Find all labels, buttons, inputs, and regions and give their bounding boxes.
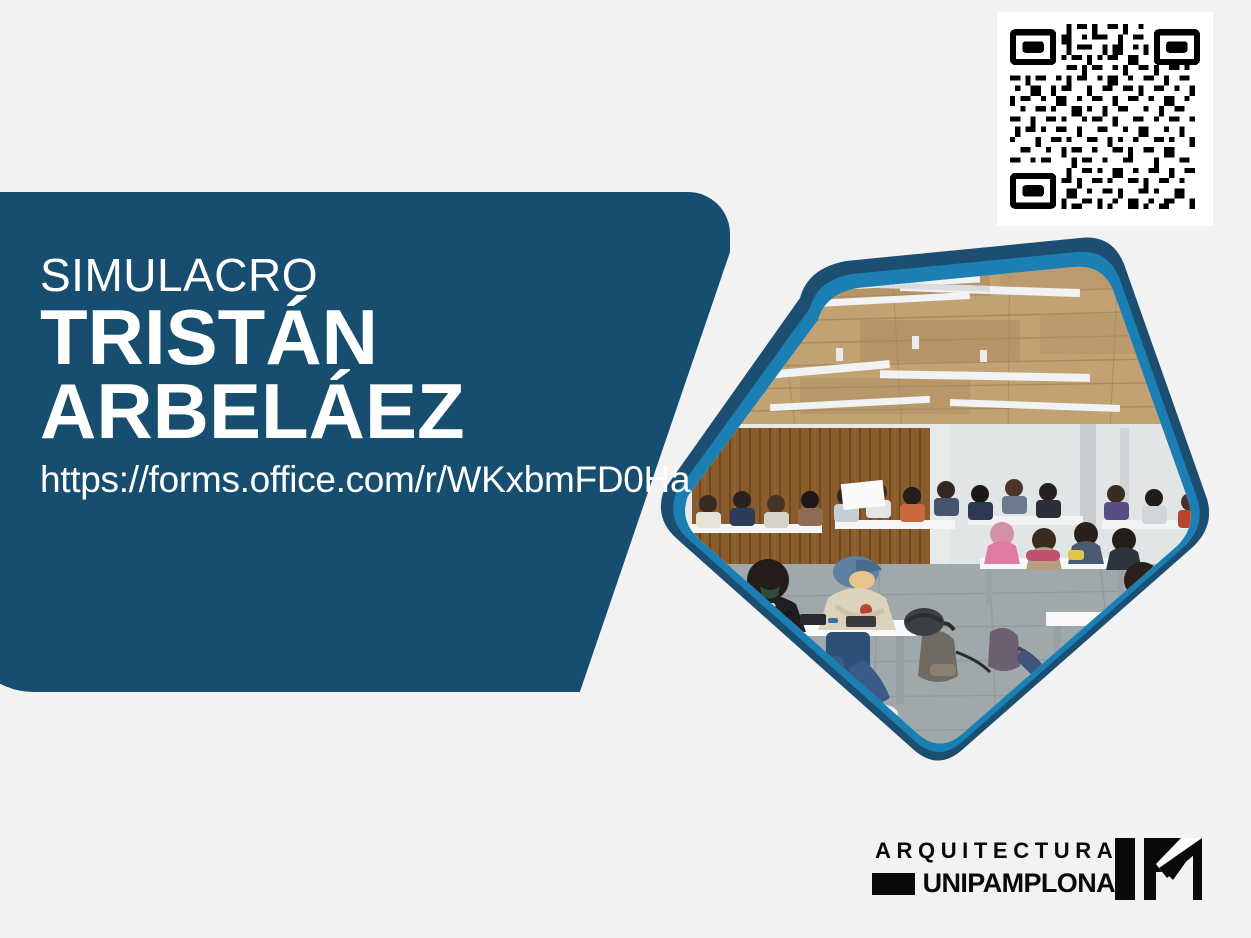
qr-code-icon	[1010, 24, 1200, 214]
qr-code-panel[interactable]	[997, 12, 1213, 226]
logo-text-column: ARQUITECTURA UNIPAMPLONA	[872, 838, 1115, 897]
logo-black-bar	[872, 873, 915, 895]
logo-word-unipamplona: UNIPAMPLONA	[923, 870, 1115, 897]
kicker-text: SIMULACRO	[40, 252, 660, 298]
logo-bottom-row: UNIPAMPLONA	[872, 870, 1115, 897]
title-line-2: ARBELÁEZ	[40, 374, 660, 448]
logo-mark-icon	[1115, 838, 1207, 900]
form-url-text[interactable]: https://forms.office.com/r/WKxbmFD0Ha	[40, 460, 660, 501]
headline-block: SIMULACRO TRISTÁN ARBELÁEZ https://forms…	[40, 252, 660, 501]
title-line-1: TRISTÁN	[40, 300, 660, 374]
poster-canvas: SIMULACRO TRISTÁN ARBELÁEZ https://forms…	[0, 0, 1251, 938]
logo-word-arquitectura: ARQUITECTURA	[875, 840, 1115, 862]
classroom-photo-frame	[650, 228, 1220, 773]
unipamplona-logo: ARQUITECTURA UNIPAMPLONA	[872, 838, 1212, 906]
